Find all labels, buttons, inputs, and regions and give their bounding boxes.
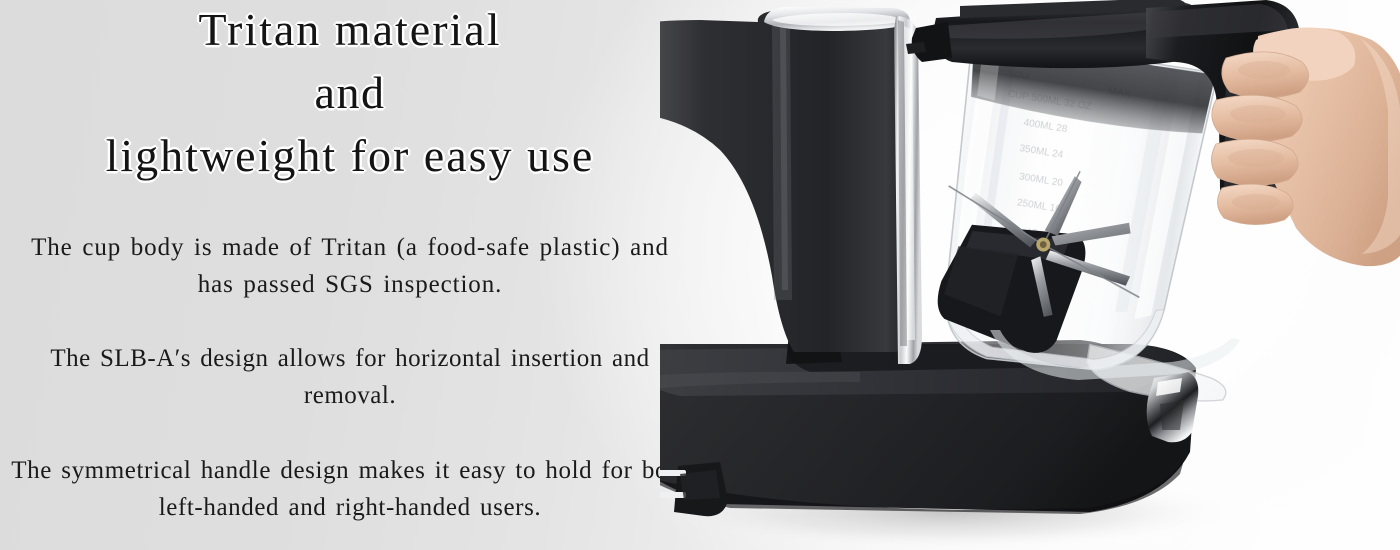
chrome-trim-strip (894, 16, 922, 364)
headline-line-3: lightweight for easy use (20, 124, 680, 187)
product-photo: MAX MAX CUP 500ML 32 OZ 400ML 28 350ML 2… (660, 0, 1400, 550)
product-feature-banner: Tritan material and lightweight for easy… (0, 0, 1400, 550)
chrome-control-knob[interactable] (1147, 372, 1199, 442)
motor-tower (660, 7, 910, 352)
hand (1211, 28, 1400, 267)
copy-column: Tritan material and lightweight for easy… (0, 0, 700, 550)
headline-line-1: Tritan material (20, 0, 680, 61)
headline-line-2: and (20, 61, 680, 124)
feature-paragraph-insertion: The SLB-Aʹs design allows for horizontal… (10, 340, 690, 414)
page-title: Tritan material and lightweight for easy… (20, 0, 680, 187)
feature-paragraph-handle: The symmetrical handle design makes it e… (10, 452, 690, 526)
feature-paragraph-material: The cup body is made of Tritan (a food-s… (10, 229, 690, 303)
